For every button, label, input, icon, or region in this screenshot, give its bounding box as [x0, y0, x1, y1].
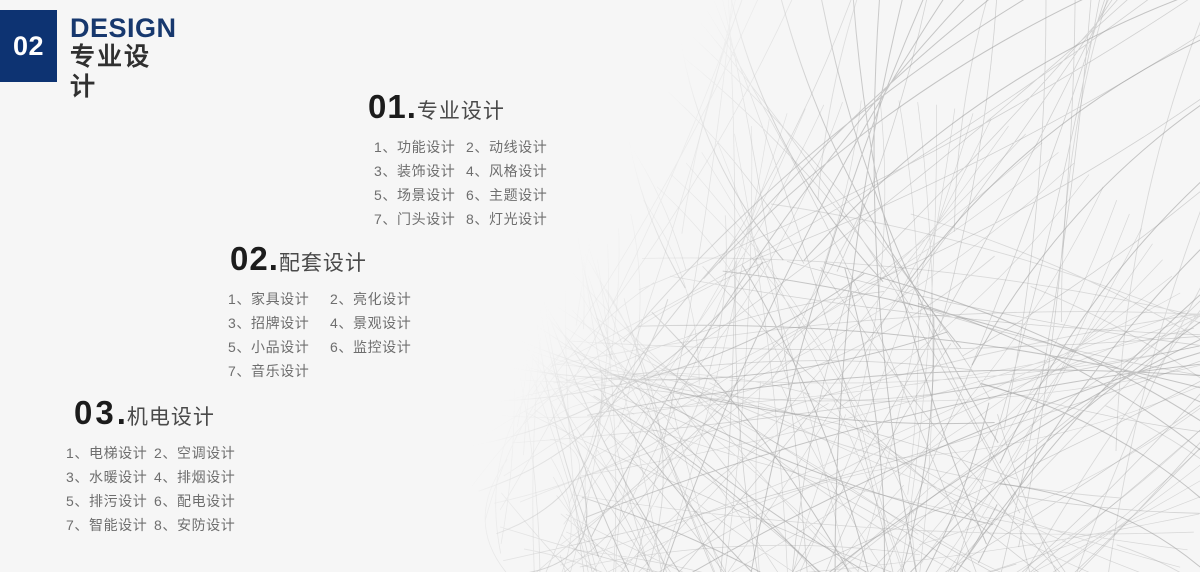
section-03-heading: 03.机电设计	[74, 396, 235, 429]
list-item: 5、小品设计6、监控设计	[228, 335, 411, 359]
list-cell-left: 1、功能设计	[374, 135, 466, 159]
list-item: 3、招牌设计4、景观设计	[228, 311, 411, 335]
list-cell-left: 3、水暖设计	[66, 465, 154, 489]
list-cell-left: 7、音乐设计	[228, 359, 330, 383]
section-03-title: 机电设计	[127, 406, 215, 429]
header-title-block: DESIGN 专业设计	[70, 14, 177, 102]
list-item: 5、排污设计6、配电设计	[66, 489, 235, 513]
page-title-en: DESIGN	[70, 14, 177, 42]
list-cell-right: 6、监控设计	[330, 335, 411, 359]
section-02-list: 1、家具设计2、亮化设计 3、招牌设计4、景观设计 5、小品设计6、监控设计 7…	[228, 287, 411, 383]
list-cell-left: 3、装饰设计	[374, 159, 466, 183]
section-03-list: 1、电梯设计2、空调设计 3、水暖设计4、排烟设计 5、排污设计6、配电设计 7…	[66, 441, 235, 537]
list-cell-right: 2、动线设计	[466, 135, 547, 159]
section-number-badge: 02	[0, 10, 57, 82]
section-03: 03.机电设计 1、电梯设计2、空调设计 3、水暖设计4、排烟设计 5、排污设计…	[74, 396, 235, 537]
decor-diagonal-wash	[360, 0, 1200, 572]
list-cell-right: 8、灯光设计	[466, 207, 547, 231]
section-01-dot: .	[407, 88, 416, 125]
list-item: 1、电梯设计2、空调设计	[66, 441, 235, 465]
list-cell-left: 5、排污设计	[66, 489, 154, 513]
section-01: 01.专业设计 1、功能设计2、动线设计 3、装饰设计4、风格设计 5、场景设计…	[368, 90, 547, 231]
slide-canvas: 02 DESIGN 专业设计 01.专业设计 1、功能设计2、动线设计 3、装饰…	[0, 0, 1200, 572]
list-cell-right: 2、空调设计	[154, 441, 235, 465]
list-cell-right: 8、安防设计	[154, 513, 235, 537]
list-cell-left: 1、家具设计	[228, 287, 330, 311]
section-02: 02.配套设计 1、家具设计2、亮化设计 3、招牌设计4、景观设计 5、小品设计…	[230, 242, 411, 383]
decor-light-band	[360, 0, 1200, 572]
section-01-number: 01	[368, 88, 407, 125]
list-cell-right: 4、排烟设计	[154, 465, 235, 489]
section-01-list: 1、功能设计2、动线设计 3、装饰设计4、风格设计 5、场景设计6、主题设计 7…	[368, 135, 547, 231]
section-03-number: 03	[74, 394, 117, 431]
list-item: 3、水暖设计4、排烟设计	[66, 465, 235, 489]
list-item: 7、门头设计8、灯光设计	[374, 207, 547, 231]
section-01-heading: 01.专业设计	[368, 90, 547, 123]
list-cell-left: 7、智能设计	[66, 513, 154, 537]
list-cell-left: 1、电梯设计	[66, 441, 154, 465]
list-cell-right: 6、主题设计	[466, 183, 547, 207]
section-02-number: 02	[230, 240, 269, 277]
list-cell-left: 5、场景设计	[374, 183, 466, 207]
list-item: 1、家具设计2、亮化设计	[228, 287, 411, 311]
list-cell-left: 3、招牌设计	[228, 311, 330, 335]
list-item: 1、功能设计2、动线设计	[374, 135, 547, 159]
section-02-title: 配套设计	[279, 252, 367, 275]
spirograph-decoration	[360, 0, 1200, 572]
list-cell-right: 4、景观设计	[330, 311, 411, 335]
list-item: 5、场景设计6、主题设计	[374, 183, 547, 207]
list-item: 7、音乐设计	[228, 359, 411, 383]
section-01-title: 专业设计	[417, 100, 505, 123]
section-03-dot: .	[117, 394, 126, 431]
list-cell-left: 5、小品设计	[228, 335, 330, 359]
spirograph-svg	[360, 0, 1200, 572]
section-02-dot: .	[269, 240, 278, 277]
list-cell-right: 4、风格设计	[466, 159, 547, 183]
section-02-heading: 02.配套设计	[230, 242, 411, 275]
list-cell-right: 6、配电设计	[154, 489, 235, 513]
list-item: 7、智能设计8、安防设计	[66, 513, 235, 537]
list-cell-right: 2、亮化设计	[330, 287, 411, 311]
list-item: 3、装饰设计4、风格设计	[374, 159, 547, 183]
page-title-cn: 专业设计	[70, 43, 177, 102]
list-cell-left: 7、门头设计	[374, 207, 466, 231]
